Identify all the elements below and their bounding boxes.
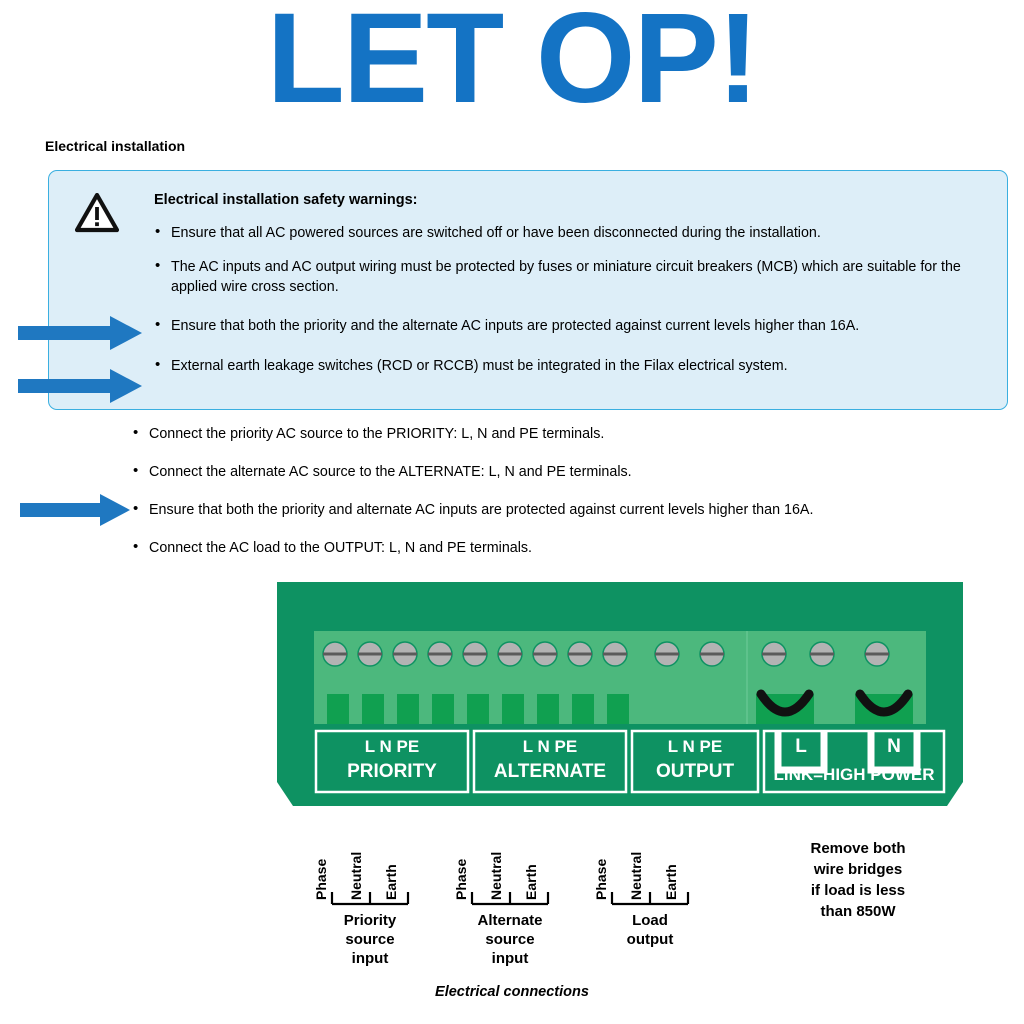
instruction-bullet-2: Connect the alternate AC source to the A… <box>132 462 1012 500</box>
remove-bridges-note-line2: wire bridges <box>768 859 948 880</box>
group-annotation-alternate: Alternate source input <box>450 911 570 968</box>
group-annotation-alternate-line2: source <box>450 930 570 949</box>
bridge-label-l: L <box>778 736 824 758</box>
group-annotation-load-line2: output <box>590 930 710 949</box>
warning-box: Electrical installation safety warnings:… <box>48 170 1008 410</box>
bridge-label-n: N <box>871 736 917 758</box>
panel-divider <box>746 631 748 724</box>
warning-triangle-icon <box>75 193 119 233</box>
group-annotation-alternate-line3: input <box>450 949 570 968</box>
pin-label-priority-phase: Phase <box>313 859 329 900</box>
page-root: LET OP! Electrical installation Electric… <box>0 0 1024 1024</box>
pin-label-output-phase: Phase <box>593 859 609 900</box>
link-high-power-label: LINK=HIGH POWER <box>764 765 944 785</box>
warning-bullet-list: Ensure that all AC powered sources are s… <box>154 223 989 390</box>
page-title: LET OP! <box>0 0 1024 131</box>
remove-bridges-note-line1: Remove both <box>768 838 948 859</box>
group-pins-alternate: L N PE <box>474 737 626 757</box>
pin-label-alternate-phase: Phase <box>453 859 469 900</box>
group-annotation-priority-line3: input <box>310 949 430 968</box>
group-annotation-priority-line1: Priority <box>310 911 430 930</box>
bracket-output <box>610 890 690 906</box>
warning-box-heading: Electrical installation safety warnings: <box>154 192 418 208</box>
warning-bullet-3: Ensure that both the priority and the al… <box>154 316 989 336</box>
callout-arrow-2 <box>18 369 142 403</box>
remove-bridges-note: Remove both wire bridges if load is less… <box>768 838 948 922</box>
group-annotation-load-line1: Load <box>590 911 710 930</box>
instruction-bullet-4: Connect the AC load to the OUTPUT: L, N … <box>132 538 1012 576</box>
warning-bullet-4: External earth leakage switches (RCD or … <box>154 356 989 376</box>
group-annotation-priority: Priority source input <box>310 911 430 968</box>
group-annotation-load: Load output <box>590 911 710 949</box>
group-pins-priority: L N PE <box>316 737 468 757</box>
warning-bullet-2: The AC inputs and AC output wiring must … <box>154 257 989 297</box>
bracket-alternate <box>470 890 550 906</box>
callout-arrow-3 <box>20 494 130 526</box>
remove-bridges-note-line3: if load is less <box>768 880 948 901</box>
figure-caption: Electrical connections <box>0 984 1024 1000</box>
instruction-bullet-list: Connect the priority AC source to the PR… <box>132 424 1012 576</box>
instruction-bullet-3: Ensure that both the priority and altern… <box>132 500 1012 538</box>
group-name-alternate: ALTERNATE <box>474 761 626 783</box>
instruction-bullet-1: Connect the priority AC source to the PR… <box>132 424 1012 462</box>
callout-arrow-1 <box>18 316 142 350</box>
warning-bullet-1: Ensure that all AC powered sources are s… <box>154 223 989 243</box>
group-name-output: OUTPUT <box>632 761 758 783</box>
section-heading: Electrical installation <box>45 138 185 154</box>
remove-bridges-note-line4: than 850W <box>768 901 948 922</box>
group-name-priority: PRIORITY <box>316 761 468 783</box>
group-annotation-priority-line2: source <box>310 930 430 949</box>
group-pins-output: L N PE <box>632 737 758 757</box>
group-annotation-alternate-line1: Alternate <box>450 911 570 930</box>
bracket-priority <box>330 890 410 906</box>
